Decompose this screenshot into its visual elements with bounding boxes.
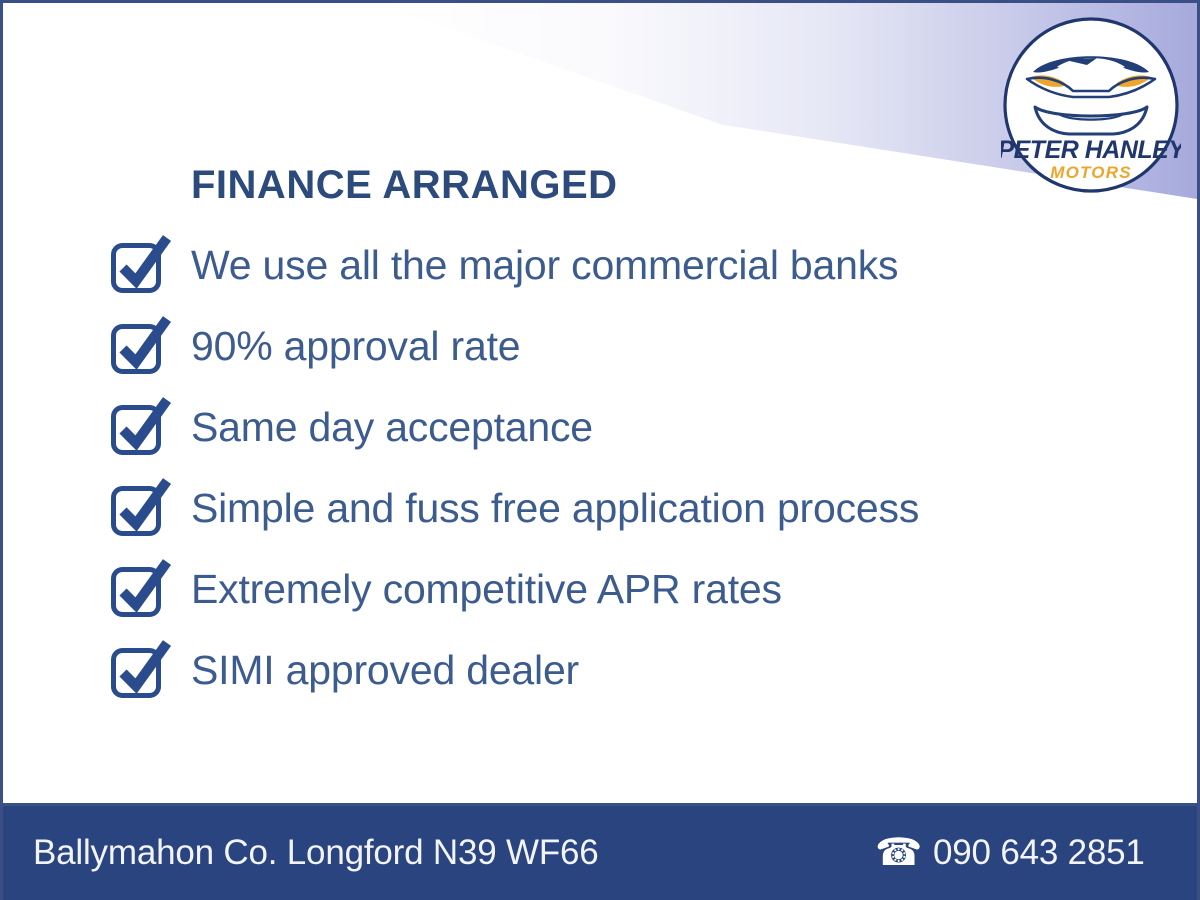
- checked-checkbox-icon: [109, 235, 173, 297]
- checked-checkbox-icon: [109, 640, 173, 702]
- list-item-label: SIMI approved dealer: [191, 650, 579, 691]
- phone-contact[interactable]: ☎ 090 643 2851: [875, 833, 1145, 873]
- contact-footer-bar: Ballymahon Co. Longford N39 WF66 ☎ 090 6…: [3, 803, 1197, 900]
- page-title: FINANCE ARRANGED: [191, 163, 1109, 207]
- main-content: FINANCE ARRANGED We use all the major co…: [109, 163, 1109, 711]
- list-item: Simple and fuss free application process: [109, 468, 1109, 549]
- list-item: We use all the major commercial banks: [109, 225, 1109, 306]
- list-item: Same day acceptance: [109, 387, 1109, 468]
- list-item: 90% approval rate: [109, 306, 1109, 387]
- list-item: SIMI approved dealer: [109, 630, 1109, 711]
- list-item-label: Same day acceptance: [191, 407, 593, 448]
- checked-checkbox-icon: [109, 397, 173, 459]
- telephone-icon: ☎: [875, 834, 917, 872]
- checked-checkbox-icon: [109, 316, 173, 378]
- list-item-label: We use all the major commercial banks: [191, 245, 898, 286]
- list-item: Extremely competitive APR rates: [109, 549, 1109, 630]
- checked-checkbox-icon: [109, 559, 173, 621]
- dealer-address: Ballymahon Co. Longford N39 WF66: [33, 833, 599, 873]
- list-item-label: Simple and fuss free application process: [191, 488, 919, 529]
- list-item-label: 90% approval rate: [191, 326, 520, 367]
- checked-checkbox-icon: [109, 478, 173, 540]
- advert-canvas: PETER HANLEY MOTORS FINANCE ARRANGED We …: [0, 0, 1200, 900]
- logo-brand-name: PETER HANLEY: [1001, 136, 1181, 164]
- phone-number[interactable]: 090 643 2851: [933, 833, 1145, 873]
- list-item-label: Extremely competitive APR rates: [191, 569, 782, 610]
- benefits-list: We use all the major commercial banks 90…: [109, 225, 1109, 711]
